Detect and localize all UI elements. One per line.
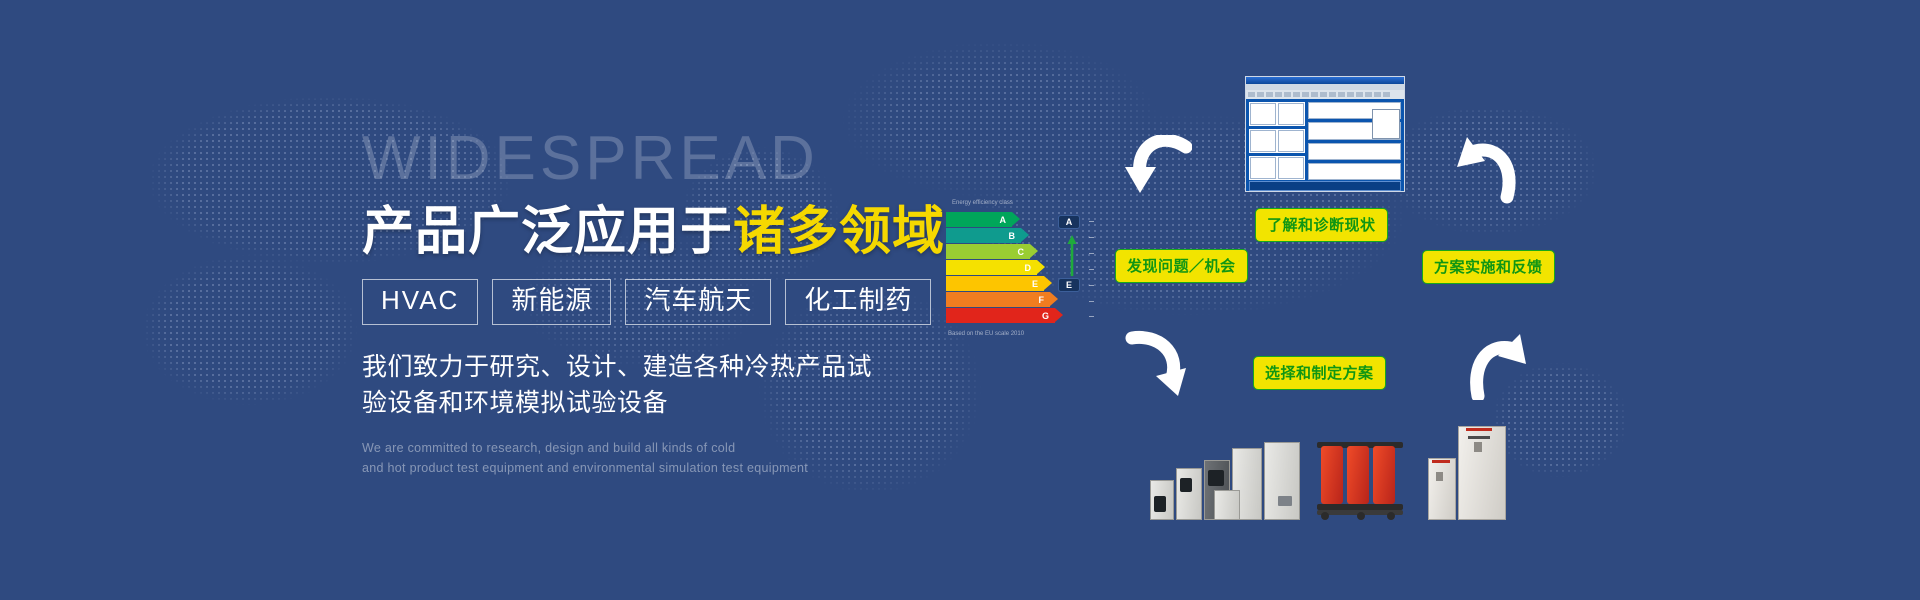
screenshot-title-bar <box>1246 77 1404 84</box>
energy-efficiency-chart: Energy efficiency class A B C D E F G A … <box>946 212 1086 324</box>
software-screenshot <box>1245 76 1405 192</box>
screenshot-left-panels <box>1249 102 1305 180</box>
chart-bar-label-c: C <box>1018 247 1025 257</box>
chart-bar-label-g: G <box>1042 311 1049 321</box>
hero-banner: WIDESPREAD 产品广泛应用于诸多领域 HVAC 新能源 汽车航天 化工制… <box>0 0 1920 600</box>
cycle-label-discover[interactable]: 发现问题／机会 <box>1115 249 1248 283</box>
chart-bar-g: G <box>946 308 1055 323</box>
chart-bar-label-f: F <box>1039 295 1045 305</box>
curved-arrow-up-right-icon <box>1455 135 1525 205</box>
headline-yellow-part: 诸多领域 <box>733 203 945 261</box>
chart-bar-label-b: B <box>1009 231 1016 241</box>
product-cabinets <box>1428 424 1510 520</box>
description-english-line-2: and hot product test equipment and envir… <box>362 458 1002 478</box>
cycle-label-plan[interactable]: 选择和制定方案 <box>1253 356 1386 390</box>
chart-bar-e: E <box>946 276 1044 291</box>
tag-chemical-pharma[interactable]: 化工制药 <box>785 279 931 325</box>
screenshot-status-bar <box>1249 181 1401 191</box>
screenshot-popup-menu <box>1372 109 1400 139</box>
description-chinese: 我们致力于研究、设计、建造各种冷热产品试验设备和环境模拟试验设备 <box>362 349 882 422</box>
curved-arrow-down-right-icon <box>1122 330 1192 400</box>
screenshot-body <box>1246 99 1404 192</box>
curved-arrow-up-icon <box>1462 330 1532 400</box>
chart-bar-label-d: D <box>1025 263 1032 273</box>
upward-improvement-arrow-icon <box>1067 234 1077 276</box>
tag-new-energy[interactable]: 新能源 <box>492 279 611 325</box>
headline-white-part: 产品广泛应用于 <box>362 203 733 261</box>
cycle-label-diagnose[interactable]: 了解和诊断现状 <box>1255 208 1388 242</box>
chart-bar-f: F <box>946 292 1050 307</box>
description-english-line-1: We are committed to research, design and… <box>362 438 1002 458</box>
ghost-title: WIDESPREAD <box>362 128 1002 194</box>
chart-top-caption: Energy efficiency class <box>952 200 1013 206</box>
screenshot-toolbar <box>1246 90 1404 99</box>
tag-automotive-aerospace[interactable]: 汽车航天 <box>625 279 771 325</box>
chart-bar-label-a: A <box>1000 215 1007 225</box>
chart-bar-c: C <box>946 244 1030 259</box>
product-drive-group <box>1150 440 1300 520</box>
chart-bars: A B C D E F G <box>946 212 1054 324</box>
chart-bar-label-e: E <box>1032 279 1038 289</box>
chart-tick-marks <box>1086 212 1094 324</box>
description-english: We are committed to research, design and… <box>362 438 1002 478</box>
product-photo-row <box>1150 410 1510 520</box>
chart-bar-a: A <box>946 212 1012 227</box>
curved-arrow-down-left-icon <box>1122 135 1192 205</box>
chart-bar-d: D <box>946 260 1037 275</box>
page-title: 产品广泛应用于诸多领域 <box>362 204 1002 261</box>
cycle-label-feedback[interactable]: 方案实施和反馈 <box>1422 250 1555 284</box>
tag-hvac[interactable]: HVAC <box>362 279 478 325</box>
chart-marker-current: E <box>1058 278 1080 292</box>
chart-marker-target: A <box>1058 215 1080 229</box>
chart-marker-column: A E <box>1058 212 1092 324</box>
chart-bottom-caption: Based on the EU scale 2010 <box>948 331 1024 337</box>
chart-bar-b: B <box>946 228 1021 243</box>
product-transformer <box>1315 438 1405 520</box>
industry-tag-list: HVAC 新能源 汽车航天 化工制药 <box>362 279 1002 325</box>
hero-text-block: WIDESPREAD 产品广泛应用于诸多领域 HVAC 新能源 汽车航天 化工制… <box>362 128 1002 478</box>
